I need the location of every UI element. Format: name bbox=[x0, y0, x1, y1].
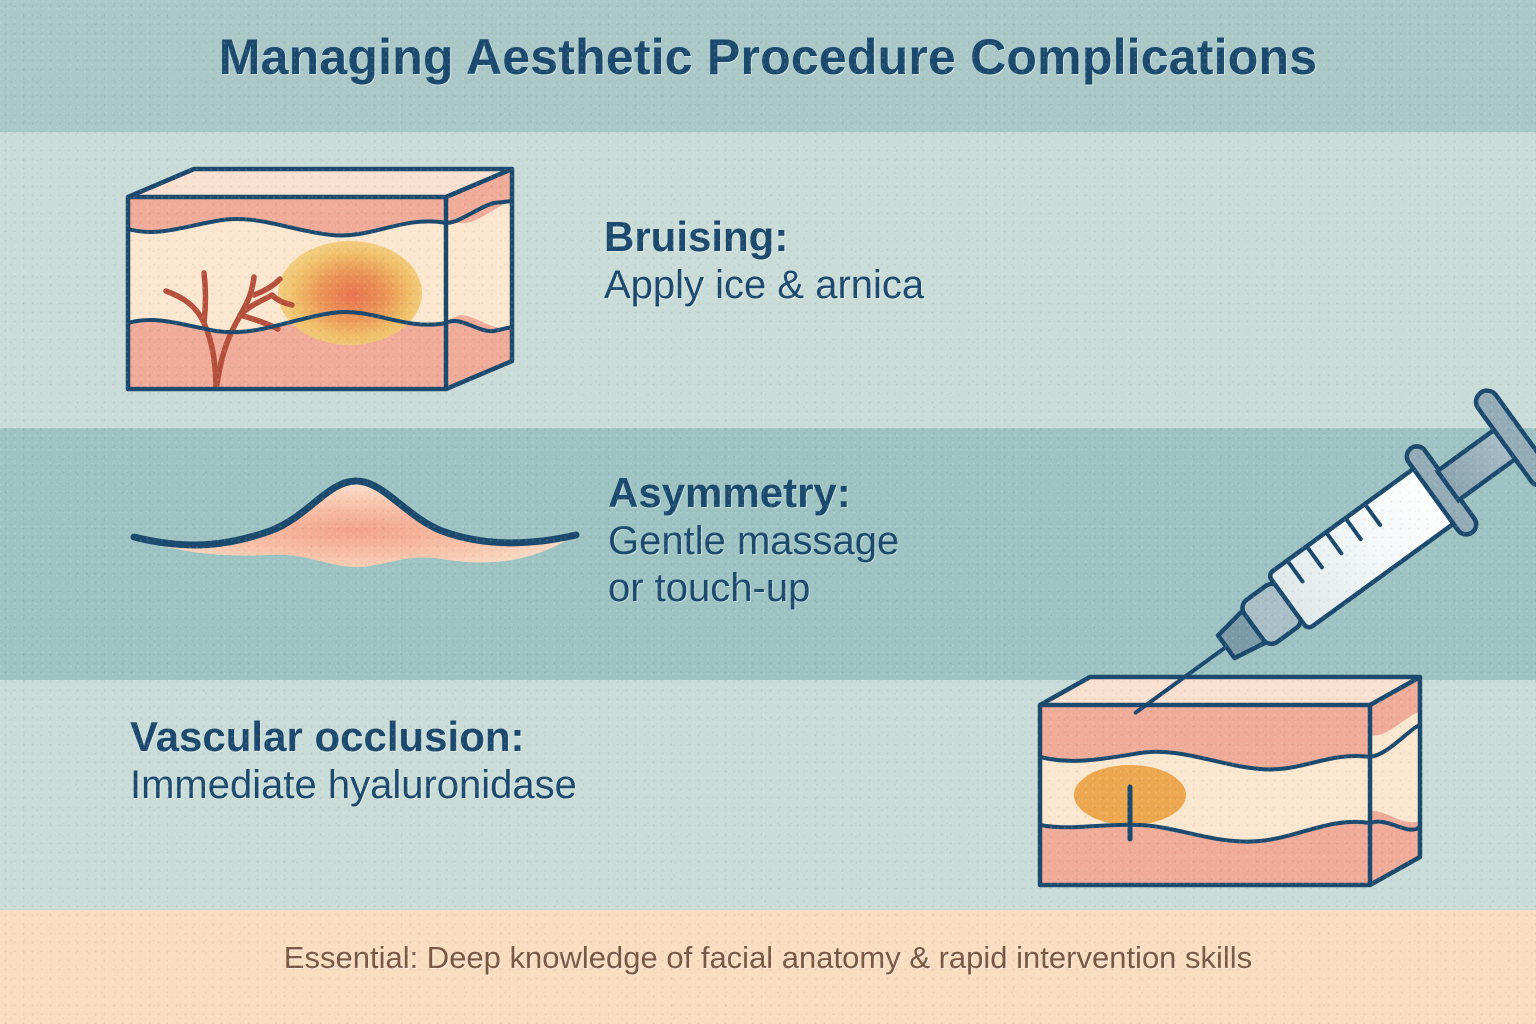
skin-contour-swelling-icon bbox=[120, 455, 590, 605]
skin-top-face bbox=[1040, 677, 1420, 705]
row-text-asymmetry: Asymmetry: Gentle massage or touch-up bbox=[608, 468, 899, 612]
row-body-bruising-line-1: Apply ice & arnica bbox=[604, 262, 924, 309]
row-heading-bruising: Bruising: bbox=[604, 212, 924, 262]
skin-cross-section-bruise-icon bbox=[120, 155, 540, 405]
row-text-bruising: Bruising: Apply ice & arnica bbox=[604, 212, 924, 309]
row-body-vascular-line-1: Immediate hyaluronidase bbox=[130, 762, 577, 809]
row-body-asymmetry-line-2: or touch-up bbox=[608, 565, 899, 612]
row-heading-asymmetry: Asymmetry: bbox=[608, 468, 899, 518]
infographic-poster: Managing Aesthetic Procedure Complicatio… bbox=[0, 0, 1536, 1024]
syringe-injection-skin-icon bbox=[1020, 455, 1520, 915]
swelling-fill bbox=[134, 481, 576, 567]
row-body-asymmetry-line-1: Gentle massage bbox=[608, 518, 899, 565]
footer-note: Essential: Deep knowledge of facial anat… bbox=[0, 940, 1536, 976]
page-title: Managing Aesthetic Procedure Complicatio… bbox=[0, 28, 1536, 86]
row-heading-vascular: Vascular occlusion: bbox=[130, 712, 577, 762]
bruise-blob bbox=[278, 241, 422, 345]
row-text-vascular: Vascular occlusion: Immediate hyaluronid… bbox=[130, 712, 577, 809]
